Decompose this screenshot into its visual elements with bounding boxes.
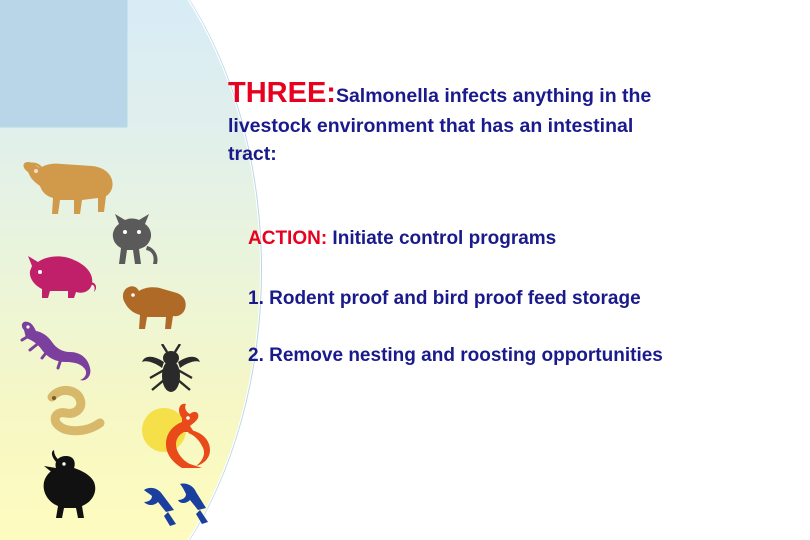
title-after-emphasis: infects anything in the [439,85,651,107]
title-block: THREE:Salmonella infects anything in the… [228,78,784,167]
slide-canvas: THREE:Salmonella infects anything in the… [0,0,810,540]
duck-silhouette [40,448,102,522]
title-line-1: THREE:Salmonella infects anything in the [228,78,784,111]
cow-silhouette [20,158,116,220]
bullet-item-1: 1. Rodent proof and bird proof feed stor… [248,288,641,310]
action-label: ACTION: [248,228,327,249]
title-emphasis-salmonella: Salmonella [336,85,439,107]
dog-silhouette [117,281,189,333]
lizard-silhouette [18,318,100,384]
birds-silhouette [140,482,214,528]
title-line-3: tract: [228,141,784,167]
cat-silhouette [103,212,163,270]
title-line-2: livestock environment that has an intest… [228,113,784,139]
rooster-silhouette [136,400,214,472]
pig-silhouette [20,252,98,300]
worm-silhouette [42,385,114,437]
fly-silhouette [140,344,202,402]
action-text: Initiate control programs [327,228,556,249]
bullet-item-2: 2. Remove nesting and roosting opportuni… [248,345,663,367]
title-number-label: THREE: [228,77,336,109]
action-line: ACTION: Initiate control programs [248,228,556,250]
